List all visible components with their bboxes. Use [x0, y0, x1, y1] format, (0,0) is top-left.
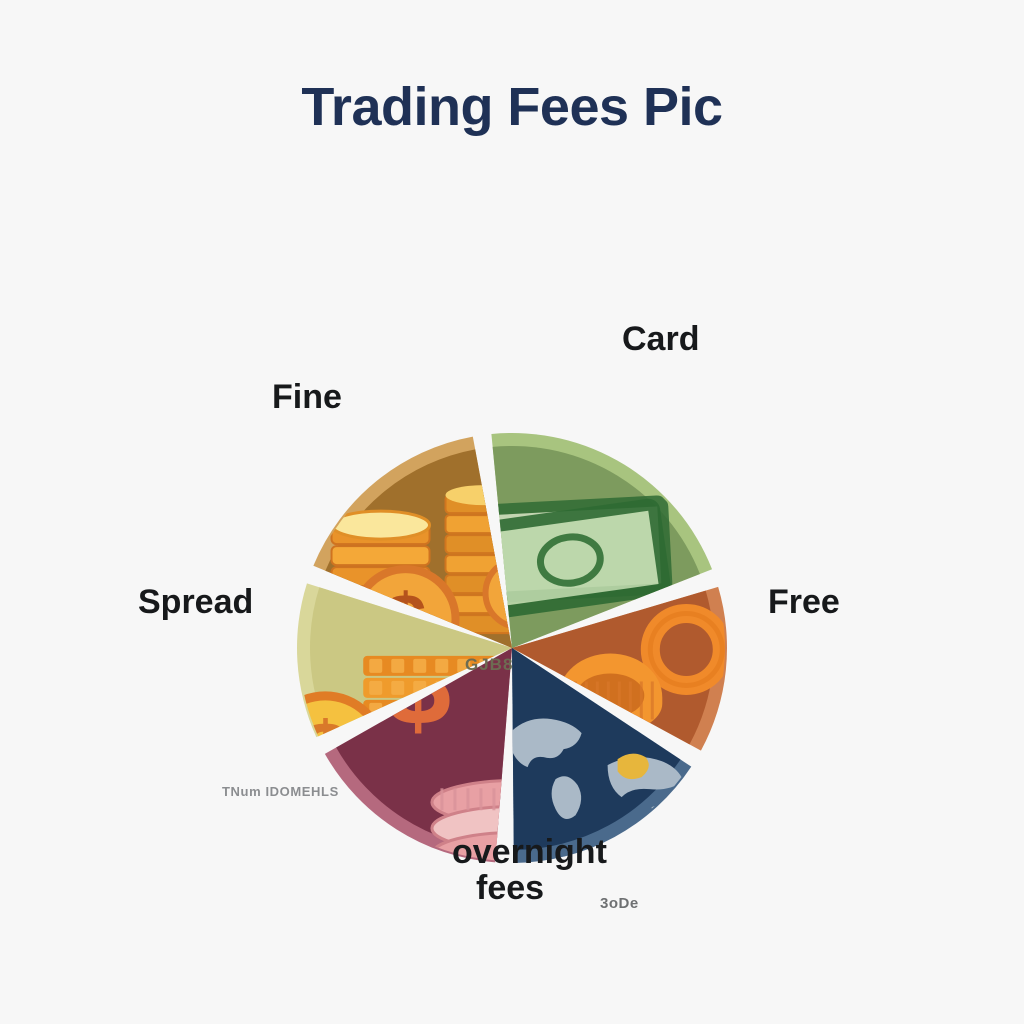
slice-label-spread: Spread — [138, 585, 253, 621]
slice-label-fine: Fine — [272, 380, 342, 416]
overnight-line-2: fees — [452, 871, 682, 907]
slice-label-card: Card — [622, 322, 699, 358]
slice-label-overnight-fees: overnightfees — [452, 835, 682, 906]
coins-artifact-text: TNum IDOMEHLS — [222, 784, 339, 799]
page-title: Trading Fees Pic — [0, 78, 1024, 137]
slice-label-free: Free — [768, 585, 840, 621]
overnight-line-1: overnight — [452, 833, 607, 871]
center-artifact-text: GJB8 — [465, 655, 513, 675]
overnight-subtext: 3oDe — [600, 895, 639, 912]
